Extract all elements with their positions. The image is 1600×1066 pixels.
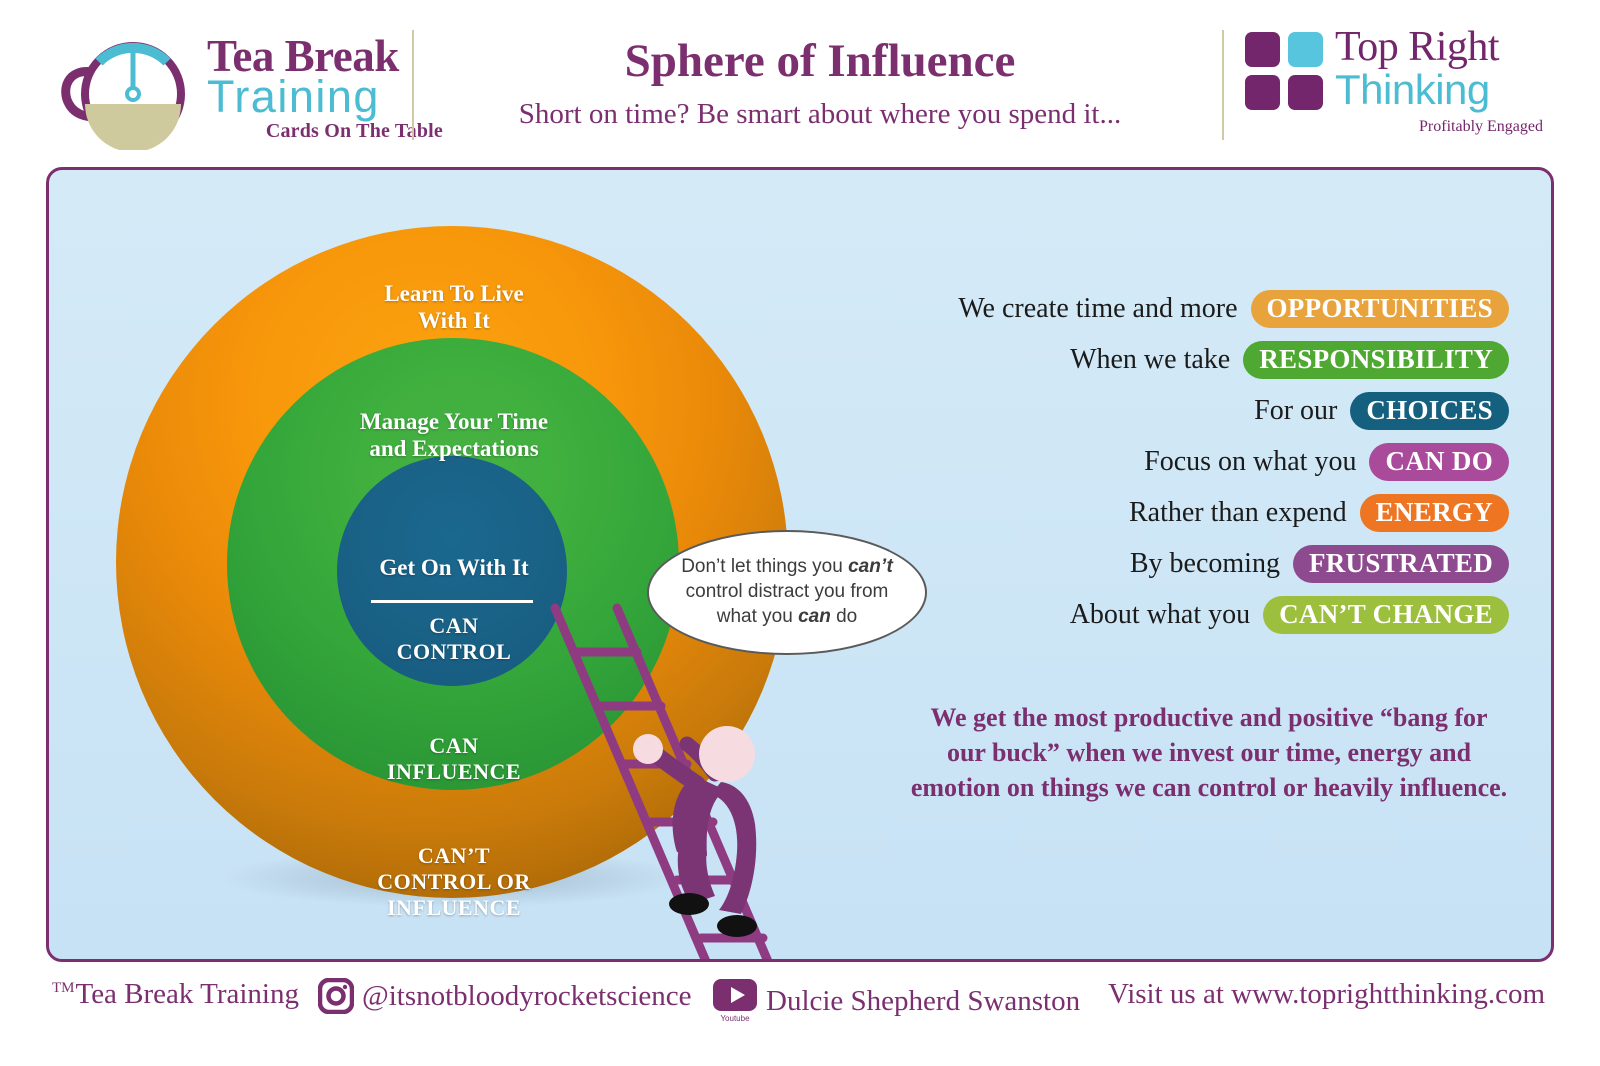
trt-logo-tagline: Profitably Engaged <box>1335 118 1543 136</box>
closing-paragraph: We get the most productive and positive … <box>909 700 1509 805</box>
trademark-superscript: TM <box>52 980 75 996</box>
statement-lead-text: By becoming <box>1130 548 1280 580</box>
header-divider-left <box>412 30 414 140</box>
instagram-handle[interactable]: @itsnotbloodyrocketscience <box>362 980 692 1013</box>
youtube-channel-name[interactable]: Dulcie Shepherd Swanston <box>766 985 1080 1018</box>
square-top-left <box>1245 32 1280 67</box>
header-divider-right <box>1222 30 1224 140</box>
head <box>699 726 755 782</box>
statement-row: About what youCAN’T CHANGE <box>879 594 1509 636</box>
main-panel: Learn To LiveWith It Manage Your Timeand… <box>46 167 1554 962</box>
trt-logo-line2: Thinking <box>1335 68 1545 112</box>
top-right-thinking-logo: Top Right Thinking Profitably Engaged <box>1245 26 1545 156</box>
square-bottom-right <box>1288 75 1323 110</box>
footer-instagram[interactable]: @itsnotbloodyrocketscience <box>318 978 692 1014</box>
statement-lead-text: When we take <box>1070 344 1230 376</box>
footer-youtube[interactable]: Youtube Dulcie Shepherd Swanston <box>712 978 1080 1024</box>
page-title: Sphere of Influence <box>430 34 1210 88</box>
trademark-text: Tea Break Training <box>76 978 300 1010</box>
statement-lead-text: Focus on what you <box>1144 446 1356 478</box>
ladder-icon <box>555 608 787 962</box>
shoe-lower <box>717 915 757 937</box>
tea-break-training-logo: Tea Break Training Cards On The Table <box>55 28 405 153</box>
statement-badge: RESPONSIBILITY <box>1243 341 1509 379</box>
statement-row: When we takeRESPONSIBILITY <box>879 339 1509 381</box>
shoe-upper <box>669 893 709 915</box>
statement-list: We create time and moreOPPORTUNITIESWhen… <box>879 288 1509 645</box>
page-footer: TMTea Break Training @itsnotbloodyrocket… <box>0 966 1600 1066</box>
statement-row: Rather than expendENERGY <box>879 492 1509 534</box>
statement-badge: ENERGY <box>1360 494 1509 532</box>
statement-lead-text: Rather than expend <box>1129 497 1347 529</box>
statement-lead-text: For our <box>1254 395 1337 427</box>
label-manage-your-time: Manage Your Timeand Expectations <box>99 408 809 462</box>
statement-badge: CHOICES <box>1350 392 1509 430</box>
statement-row: By becomingFRUSTRATED <box>879 543 1509 585</box>
statement-row: For ourCHOICES <box>879 390 1509 432</box>
statement-badge: CAN’T CHANGE <box>1263 596 1509 634</box>
teacup-clock-icon <box>55 32 200 150</box>
youtube-icon-label: Youtube <box>712 1014 758 1023</box>
inner-divider-rule <box>371 600 533 603</box>
footer-trademark: TMTea Break Training <box>52 978 299 1011</box>
statement-badge: CAN DO <box>1369 443 1509 481</box>
tbt-logo-tagline: Cards On The Table <box>207 120 443 143</box>
square-top-right <box>1288 32 1323 67</box>
statement-badge: OPPORTUNITIES <box>1251 290 1510 328</box>
statement-row: We create time and moreOPPORTUNITIES <box>879 288 1509 330</box>
four-squares-icon <box>1245 32 1323 110</box>
statement-lead-text: About what you <box>1070 599 1250 631</box>
footer-website[interactable]: Visit us at www.toprightthinking.com <box>1108 978 1545 1011</box>
sphere-of-influence-diagram: Learn To LiveWith It Manage Your Timeand… <box>99 208 809 938</box>
page-header: Tea Break Training Cards On The Table Sp… <box>0 0 1600 165</box>
label-learn-to-live-with-it: Learn To LiveWith It <box>99 280 809 334</box>
trt-logo-line1: Top Right <box>1335 26 1545 68</box>
website-text[interactable]: Visit us at www.toprightthinking.com <box>1108 978 1545 1011</box>
tbt-logo-line2: Training <box>207 74 445 119</box>
instagram-icon[interactable] <box>318 978 354 1014</box>
statement-lead-text: We create time and more <box>958 293 1237 325</box>
youtube-icon-wrap[interactable]: Youtube <box>712 978 758 1024</box>
ladder-with-climber-illustration <box>529 608 889 962</box>
page-subtitle: Short on time? Be smart about where you … <box>430 98 1210 131</box>
title-block: Sphere of Influence Short on time? Be sm… <box>430 34 1210 131</box>
square-bottom-left <box>1245 75 1280 110</box>
statement-row: Focus on what youCAN DO <box>879 441 1509 483</box>
statement-badge: FRUSTRATED <box>1293 545 1509 583</box>
youtube-icon[interactable] <box>712 978 758 1012</box>
hand-left <box>633 734 663 764</box>
